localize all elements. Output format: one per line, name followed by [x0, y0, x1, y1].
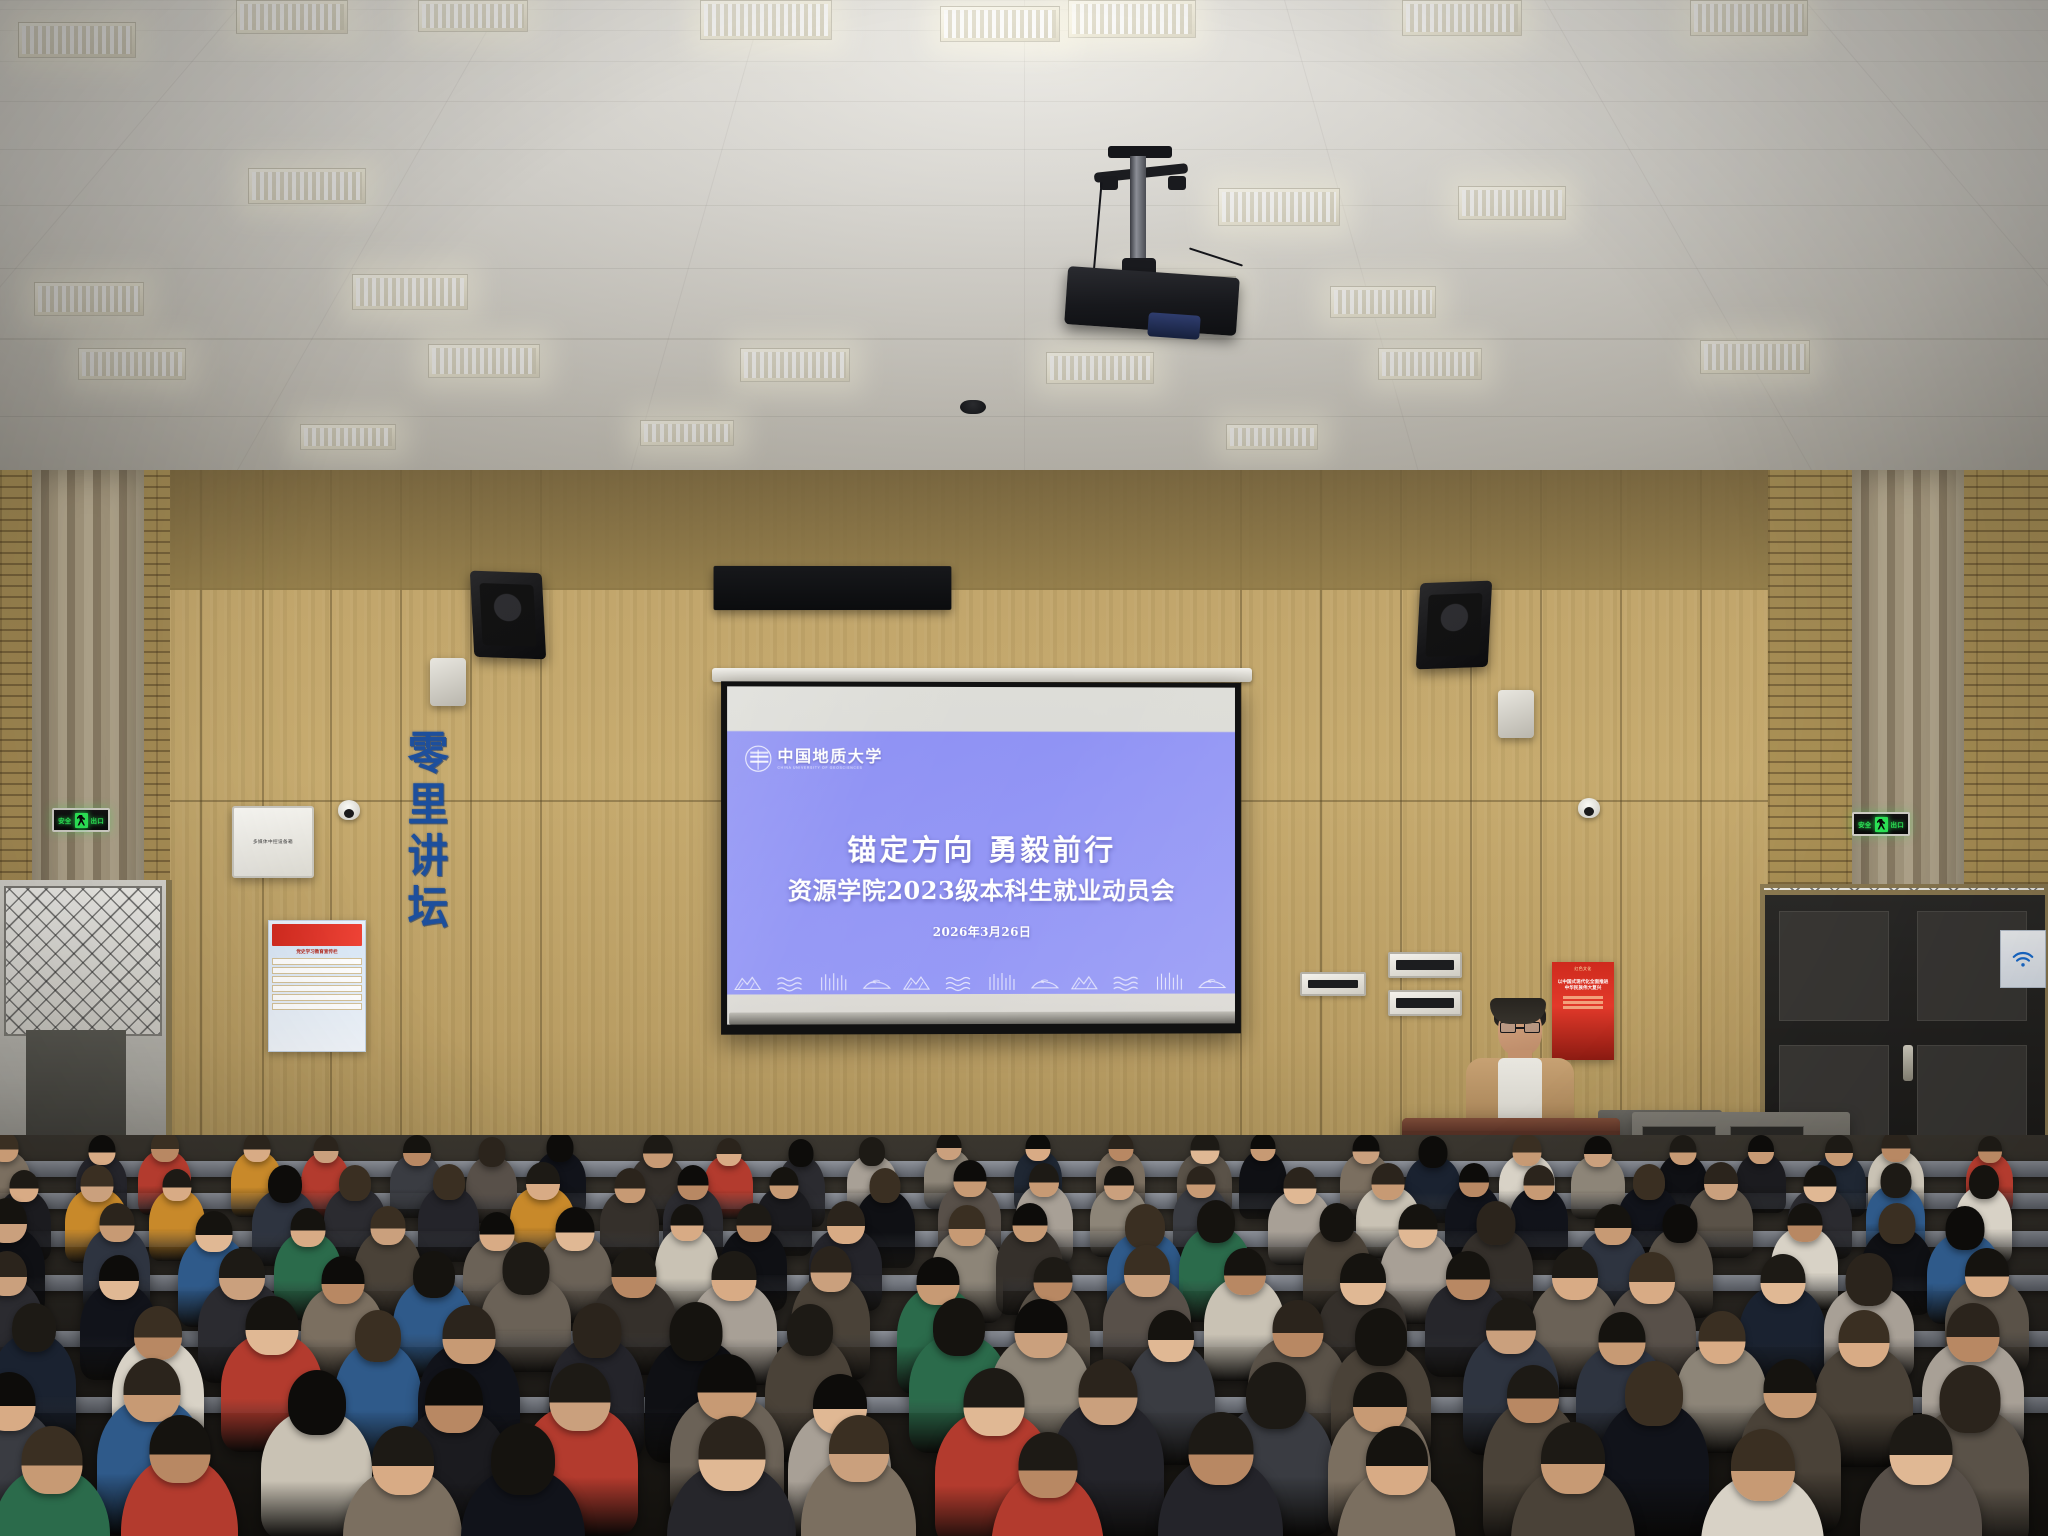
audience-head — [1188, 1412, 1253, 1485]
audience-head — [870, 1168, 901, 1203]
audience-head — [953, 1160, 986, 1197]
audience-head — [413, 1251, 455, 1298]
projector-pole — [1130, 156, 1146, 264]
audience-head — [425, 1368, 483, 1433]
audience-head — [669, 1302, 722, 1361]
wall-calligraphy: 零 里 讲 坛 — [395, 731, 460, 930]
lecture-hall-photo: 零 里 讲 坛 多媒体中控设备箱 党史学习教育宣传栏 红色文化 以中国式现代化全… — [0, 0, 2048, 1536]
audience-head — [1366, 1426, 1428, 1495]
audience-head — [9, 1170, 38, 1202]
audience-head — [163, 1169, 192, 1201]
audience-head — [195, 1211, 232, 1252]
audience-head — [403, 1135, 431, 1166]
exit-sign-right: 安全 出口 — [1852, 812, 1910, 836]
running-person-icon — [75, 813, 88, 828]
audience-head — [88, 1135, 115, 1165]
deco-mountain-icon — [733, 972, 767, 992]
university-logo: 中国地质大学 CHINA UNIVERSITY OF GEOSCIENCES — [745, 746, 883, 772]
audience-head — [964, 1368, 1025, 1436]
slide-date: 2026年3月26日 — [727, 923, 1235, 941]
audience-head — [1284, 1167, 1317, 1204]
audience-head — [716, 1138, 741, 1166]
ceiling-shading — [0, 0, 2048, 520]
audience-head — [810, 1246, 851, 1292]
audience-head — [555, 1207, 594, 1251]
audience-head — [859, 1137, 885, 1166]
audience-head — [787, 1304, 833, 1356]
wall-upper-shadow-band — [0, 470, 2048, 590]
running-person-icon — [1875, 817, 1888, 832]
audience-head — [1340, 1253, 1386, 1305]
right-small-speaker — [1498, 690, 1534, 738]
audience-head — [936, 1135, 961, 1160]
audience-head — [134, 1306, 182, 1360]
slide-title: 锚定方向 勇毅前行 — [727, 826, 1235, 868]
deco-mountain-icon — [902, 972, 936, 992]
university-emblem-icon — [745, 746, 771, 772]
audience-head — [1372, 1163, 1405, 1200]
exit-sign-left-cn-a: 安全 — [58, 815, 71, 825]
audience-head — [288, 1370, 346, 1435]
audience-head — [291, 1208, 326, 1247]
screen-surface: 中国地质大学 CHINA UNIVERSITY OF GEOSCIENCES 锚… — [727, 686, 1235, 1024]
deco-wave-icon — [1112, 971, 1146, 991]
audience-head — [1251, 1135, 1276, 1161]
calligraphy-char-1: 零 — [408, 731, 449, 776]
audience-head — [698, 1354, 757, 1420]
audience-head — [1880, 1163, 1911, 1198]
audience-head — [0, 1135, 19, 1162]
audience-head — [1486, 1298, 1536, 1354]
audience-head — [433, 1164, 465, 1200]
audience-head — [1584, 1136, 1612, 1167]
audience-head — [1012, 1203, 1047, 1242]
audience-head — [371, 1206, 406, 1245]
audience-head — [21, 1426, 82, 1494]
right-speaker — [1416, 581, 1492, 670]
screen-frame: 中国地质大学 CHINA UNIVERSITY OF GEOSCIENCES 锚… — [721, 681, 1241, 1034]
exit-sign-left: 安全 出口 — [52, 808, 110, 832]
audience-head — [1224, 1248, 1266, 1295]
audience-head — [1190, 1135, 1219, 1164]
audience-head — [1507, 1365, 1559, 1423]
audience-head — [678, 1165, 709, 1200]
projection-screen: 中国地质大学 CHINA UNIVERSITY OF GEOSCIENCES 锚… — [722, 668, 1242, 1050]
audience-head — [246, 1296, 299, 1355]
wall-box-side — [1300, 972, 1366, 996]
poster-left-rows — [272, 958, 362, 1010]
audience-head — [698, 1416, 765, 1491]
ceiling — [0, 0, 2048, 520]
audience-head — [478, 1137, 505, 1167]
audience-head — [149, 1415, 210, 1483]
slide-subtitle: 资源学院2023级本科生就业动员会 — [727, 871, 1235, 906]
audience-head — [1633, 1164, 1665, 1200]
audience-head — [99, 1203, 134, 1242]
audience-head — [1398, 1204, 1437, 1248]
audience-head — [1669, 1135, 1696, 1165]
audience-head — [1513, 1135, 1542, 1166]
audience-head — [1629, 1252, 1675, 1304]
audience-head — [789, 1139, 814, 1167]
audience-head — [1947, 1303, 2000, 1362]
audience-head — [1352, 1135, 1379, 1164]
audience-head — [491, 1423, 555, 1495]
wifi-sign — [2000, 930, 2046, 988]
audience-head — [1029, 1163, 1059, 1197]
audience-head — [1698, 1311, 1745, 1364]
wall-air-conditioner — [714, 566, 952, 610]
deco-mountain-icon — [1070, 971, 1104, 991]
audience-area — [0, 1135, 2048, 1536]
door-right-panel-1 — [1779, 911, 1889, 1021]
audience-head — [671, 1204, 704, 1241]
audience-head — [1969, 1165, 1999, 1199]
audience-head — [1825, 1135, 1853, 1166]
audience-head — [339, 1165, 371, 1201]
deco-grass-icon — [986, 972, 1020, 992]
audience-head — [1476, 1201, 1515, 1245]
audience-head — [1945, 1206, 1984, 1250]
audience-head — [1598, 1312, 1645, 1365]
audience-member — [0, 1468, 110, 1536]
calligraphy-char-2: 里 — [408, 783, 449, 828]
audience-head — [12, 1303, 56, 1352]
ceiling-projector — [1048, 146, 1238, 316]
audience-head — [770, 1167, 799, 1199]
left-small-speaker — [430, 658, 466, 706]
audience-head — [503, 1242, 550, 1295]
deco-wave-icon — [944, 972, 978, 992]
audience-head — [1890, 1414, 1953, 1485]
audience-head — [1355, 1308, 1407, 1366]
audience-head — [1760, 1254, 1805, 1304]
audience-head — [1965, 1248, 2009, 1297]
calligraphy-char-4: 坛 — [408, 886, 449, 931]
right-camera — [1578, 798, 1600, 818]
audience-head — [949, 1205, 986, 1246]
exit-sign-right-cn-a: 安全 — [1858, 819, 1871, 829]
audience-head — [268, 1165, 302, 1203]
projector-arm-clamp-left — [1100, 176, 1118, 190]
audience-head — [1108, 1135, 1133, 1161]
audience-head — [1459, 1163, 1489, 1197]
audience-head — [480, 1212, 515, 1251]
audience-head — [1846, 1253, 1893, 1306]
audience-head — [1148, 1310, 1194, 1362]
audience-head — [1594, 1204, 1631, 1245]
audience-head — [219, 1248, 265, 1300]
audience-head — [151, 1135, 179, 1162]
audience-head — [1940, 1365, 2001, 1433]
audience-head — [372, 1426, 434, 1495]
audience-head — [1246, 1362, 1306, 1429]
poster-right-main-label: 以中国式现代化全面推进中华民族伟大复兴 — [1556, 979, 1610, 991]
university-name-cn: 中国地质大学 — [777, 748, 882, 764]
audience-head — [1033, 1257, 1072, 1301]
audience-head — [933, 1298, 985, 1356]
audience-head — [1804, 1165, 1837, 1202]
slide-decorative-motifs — [727, 965, 1235, 992]
audience-head — [1552, 1248, 1598, 1300]
chinese-flag-icon — [272, 924, 362, 946]
audience-head — [1078, 1359, 1137, 1425]
audience-head — [1124, 1245, 1170, 1297]
audience-head — [1125, 1204, 1165, 1249]
audience-head — [1187, 1166, 1216, 1198]
audience-head — [1104, 1166, 1134, 1200]
calligraphy-char-3: 讲 — [408, 834, 449, 879]
audience-head — [1272, 1300, 1323, 1357]
deco-cloud-icon — [860, 972, 894, 992]
audience-head — [243, 1135, 270, 1162]
audience-head — [1662, 1204, 1697, 1243]
audience-head — [1748, 1135, 1774, 1164]
deco-grass-icon — [818, 972, 852, 992]
smoke-detector-icon — [960, 400, 986, 414]
poster-right-top-label: 红色文化 — [1556, 966, 1610, 972]
audience-head — [80, 1165, 113, 1202]
audience-head — [1014, 1299, 1067, 1358]
exit-sign-left-cn-b: 出口 — [91, 815, 104, 825]
exit-sign-right-cn-b: 出口 — [1891, 819, 1904, 829]
deco-cloud-icon — [1195, 971, 1229, 991]
audience-head — [1419, 1136, 1448, 1168]
audience-head — [1541, 1422, 1605, 1494]
screen-bottom-weight-bar — [729, 1011, 1235, 1024]
audience-head — [1026, 1135, 1051, 1161]
projector-cable-loop — [1189, 247, 1243, 266]
audience-head — [321, 1256, 364, 1304]
audience-head — [1018, 1432, 1077, 1498]
left-camera — [338, 800, 360, 820]
av-control-cabinet[interactable]: 多媒体中控设备箱 — [232, 806, 314, 878]
audience-head — [612, 1248, 657, 1298]
audience-head — [1787, 1203, 1822, 1242]
audience-head — [443, 1305, 496, 1364]
audience-head — [1625, 1361, 1683, 1426]
projector-arm-clamp-right — [1168, 176, 1186, 190]
deco-grass-icon — [1154, 971, 1188, 991]
audience-head — [313, 1135, 338, 1163]
wifi-icon — [2010, 946, 2036, 972]
poster-left-title: 党史学习教育宣传栏 — [272, 949, 362, 955]
audience-head — [547, 1135, 574, 1162]
screen-roller-bar — [712, 668, 1252, 682]
audience-head — [1197, 1200, 1235, 1243]
audience-head — [549, 1363, 610, 1431]
audience-head — [1838, 1310, 1889, 1367]
audience-head — [1446, 1251, 1490, 1300]
audience-head — [526, 1162, 560, 1200]
audience-head — [355, 1310, 401, 1362]
audience-head — [614, 1168, 645, 1203]
audience-head — [1978, 1136, 2002, 1163]
projector-lens — [1147, 312, 1201, 340]
presenter-collar — [1490, 998, 1546, 1024]
deco-cloud-icon — [1028, 972, 1062, 992]
door-right-handle[interactable] — [1903, 1045, 1913, 1081]
audience-head — [1704, 1162, 1738, 1200]
audience-head — [829, 1415, 889, 1482]
audience-head — [1882, 1135, 1911, 1162]
audience-head — [123, 1358, 180, 1422]
audience-head — [1353, 1372, 1407, 1432]
left-speaker — [470, 571, 546, 660]
av-control-cabinet-label: 多媒体中控设备箱 — [253, 839, 293, 845]
audience-head — [572, 1303, 621, 1358]
audience-head — [1731, 1429, 1795, 1501]
deco-wave-icon — [775, 972, 809, 992]
audience-head — [711, 1251, 756, 1301]
audience-head — [99, 1255, 139, 1300]
door-left-lattice-window — [4, 886, 162, 1036]
audience-head — [1764, 1359, 1817, 1418]
wall-box-top — [1388, 952, 1462, 978]
presentation-slide: 中国地质大学 CHINA UNIVERSITY OF GEOSCIENCES 锚… — [727, 732, 1235, 994]
poster-left: 党史学习教育宣传栏 — [268, 920, 366, 1052]
university-name-en: CHINA UNIVERSITY OF GEOSCIENCES — [777, 767, 882, 771]
audience-head — [1523, 1165, 1554, 1200]
audience-head — [1320, 1203, 1355, 1242]
audience-head — [643, 1135, 673, 1168]
audience-head — [827, 1201, 865, 1244]
audience-head — [1879, 1203, 1916, 1244]
audience-head — [736, 1203, 771, 1242]
